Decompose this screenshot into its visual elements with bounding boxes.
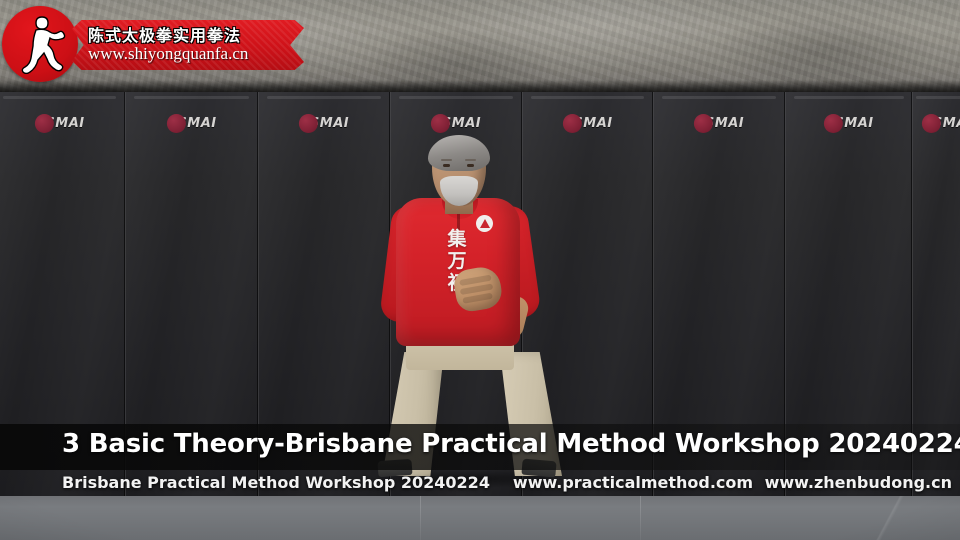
- video-title: 3 Basic Theory-Brisbane Practical Method…: [62, 429, 942, 459]
- watermark-chinese-title: 陈式太极拳实用拳法: [88, 22, 288, 46]
- caption-url-secondary[interactable]: www.zhenbudong.cn: [765, 473, 952, 492]
- caption-url-primary[interactable]: www.practicalmethod.com: [513, 473, 753, 492]
- smai-logo-icon: SMAI: [694, 114, 744, 133]
- kungfu-figure-glyph: [12, 14, 68, 74]
- smai-logo-icon: SMAI: [431, 114, 481, 133]
- smai-logo-icon: SMAI: [922, 114, 960, 133]
- caption-subtitle-row: Brisbane Practical Method Workshop 20240…: [62, 473, 952, 492]
- video-frame: SMAI SMAI SMAI SMAI SMAI: [0, 0, 960, 540]
- smai-logo-icon: SMAI: [562, 114, 612, 133]
- smai-logo-icon: SMAI: [299, 114, 349, 133]
- smai-logo-icon: SMAI: [34, 114, 84, 133]
- caption-workshop-name: Brisbane Practical Method Workshop 20240…: [62, 473, 490, 492]
- gym-floor: [0, 494, 960, 540]
- smai-logo-icon: SMAI: [166, 114, 216, 133]
- watermark-url: www.shiyongquanfa.cn: [88, 44, 298, 64]
- smai-logo-icon: SMAI: [823, 114, 873, 133]
- watermark-overlay: 陈式太极拳实用拳法 www.shiyongquanfa.cn: [0, 0, 320, 88]
